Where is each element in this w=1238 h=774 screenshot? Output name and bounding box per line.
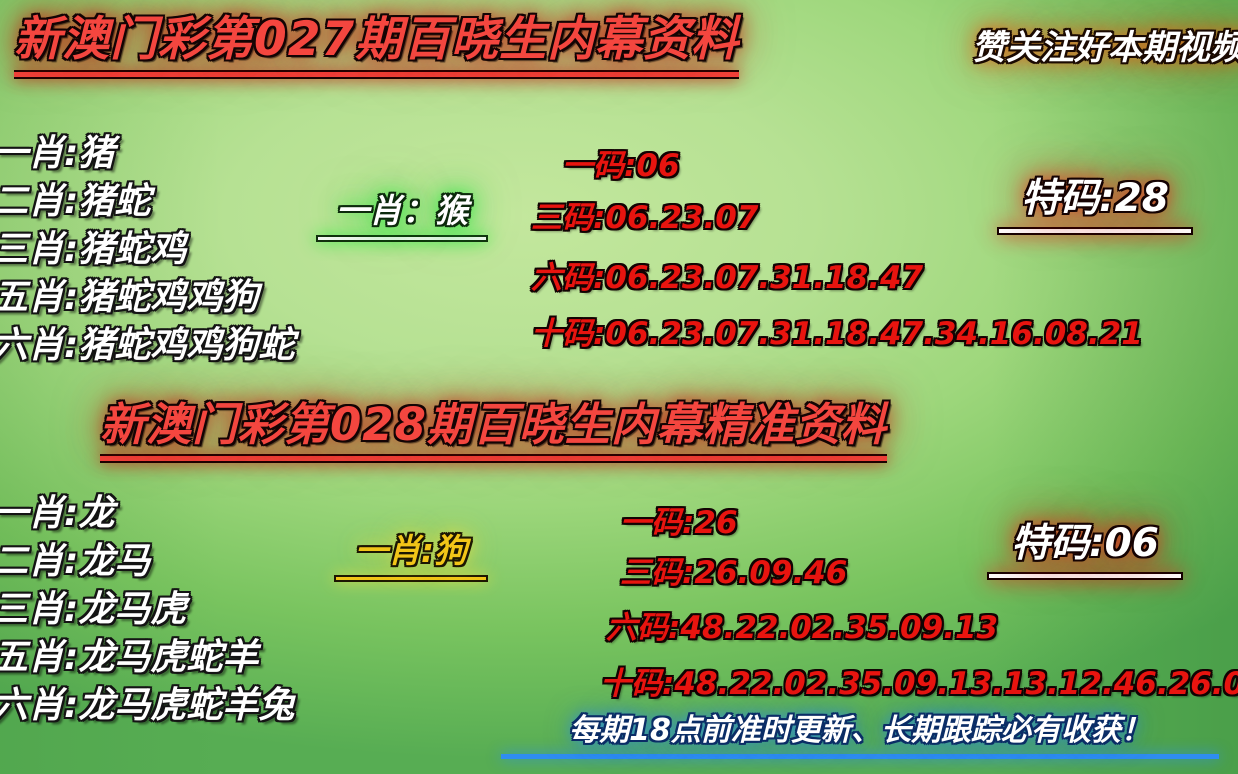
footer-banner: 每期18点前准时更新、长期跟踪必有收获！ xyxy=(490,712,1230,759)
zodiac-row: 一肖:龙 xyxy=(0,490,294,538)
special-box-1: 特码:28 xyxy=(985,175,1205,235)
zodiac-row: 三肖:猪蛇鸡 xyxy=(0,226,294,274)
zodiac-row: 五肖:龙马虎蛇羊 xyxy=(0,634,294,682)
zodiac-row: 三肖:龙马虎 xyxy=(0,586,294,634)
section-title-2-underline xyxy=(100,454,887,463)
code-row: 一码:26 xyxy=(620,497,738,542)
pick-label-1: 一肖：猴 xyxy=(312,190,492,232)
section-title-1-underline xyxy=(14,70,739,79)
pick-label-2: 一肖:狗 xyxy=(330,530,492,572)
special-box-2: 特码:06 xyxy=(975,520,1195,580)
special-underline-2 xyxy=(987,572,1183,580)
special-underline-1 xyxy=(997,227,1193,235)
zodiac-row: 二肖:龙马 xyxy=(0,538,294,586)
code-row: 三码:26.09.46 xyxy=(620,547,847,592)
pick-underline-2 xyxy=(334,575,488,582)
section-title-2-text: 新澳门彩第028期百晓生内幕精准资料 xyxy=(100,398,887,451)
footer-underline xyxy=(501,754,1219,759)
pick-underline-1 xyxy=(316,235,488,242)
zodiac-row: 五肖:猪蛇鸡鸡狗 xyxy=(0,274,294,322)
code-row: 六码:06.23.07.31.18.47 xyxy=(531,252,923,297)
section-title-2: 新澳门彩第028期百晓生内幕精准资料 xyxy=(100,398,887,463)
code-row: 三码:06.23.07 xyxy=(531,192,758,237)
zodiac-row: 一肖:猪 xyxy=(0,130,294,178)
special-label-2: 特码:06 xyxy=(975,520,1195,568)
code-row: 六码:48.22.02.35.09.13 xyxy=(606,602,998,647)
poster-stage: 新澳门彩第027期百晓生内幕资料 赞关注好本期视频 一肖:猪 二肖:猪蛇 三肖:… xyxy=(0,0,1238,774)
footer-text: 每期18点前准时更新、长期跟踪必有收获！ xyxy=(490,712,1230,750)
zodiac-row: 二肖:猪蛇 xyxy=(0,178,294,226)
pick-box-2: 一肖:狗 xyxy=(330,530,492,582)
code-row: 一码:06 xyxy=(562,140,680,185)
code-row: 十码:48.22.02.35.09.13.13.12.46.26.03 xyxy=(600,658,1238,703)
section-title-1-text: 新澳门彩第027期百晓生内幕资料 xyxy=(14,12,739,67)
special-label-1: 特码:28 xyxy=(985,175,1205,223)
zodiac-row: 六肖:龙马虎蛇羊兔 xyxy=(0,682,294,730)
pick-box-1: 一肖：猴 xyxy=(312,190,492,242)
zodiac-list-2: 一肖:龙 二肖:龙马 三肖:龙马虎 五肖:龙马虎蛇羊 六肖:龙马虎蛇羊兔 xyxy=(0,490,294,730)
code-row: 十码:06.23.07.31.18.47.34.16.08.21 xyxy=(531,308,1143,353)
promo-top-right: 赞关注好本期视频 xyxy=(972,28,1238,68)
section-title-1: 新澳门彩第027期百晓生内幕资料 xyxy=(14,12,739,79)
zodiac-row: 六肖:猪蛇鸡鸡狗蛇 xyxy=(0,322,294,370)
zodiac-list-1: 一肖:猪 二肖:猪蛇 三肖:猪蛇鸡 五肖:猪蛇鸡鸡狗 六肖:猪蛇鸡鸡狗蛇 xyxy=(0,130,294,370)
